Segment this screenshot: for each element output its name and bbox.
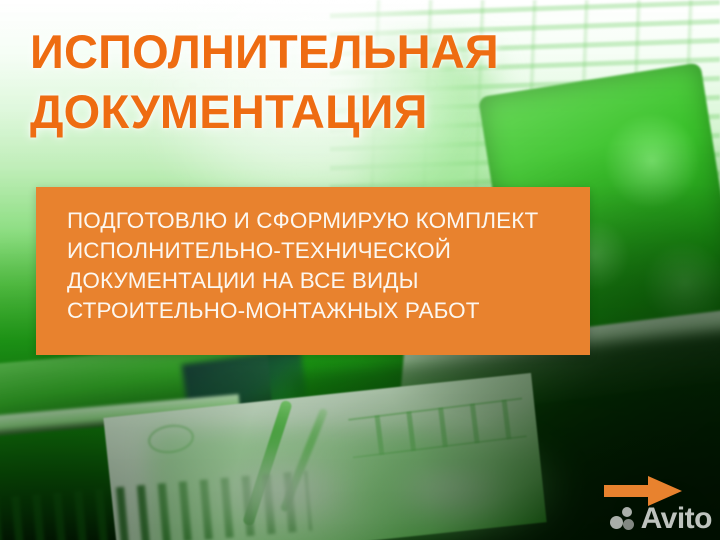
avito-wordmark: Avito xyxy=(641,504,712,534)
offer-line-1: ПОДГОТОВЛЮ И СФОРМИРУЮ КОМПЛЕКТ xyxy=(67,206,577,236)
offer-callout-panel: ПОДГОТОВЛЮ И СФОРМИРУЮ КОМПЛЕКТ ИСПОЛНИТ… xyxy=(36,187,590,355)
avito-watermark: Avito xyxy=(610,504,712,534)
offer-callout-text: ПОДГОТОВЛЮ И СФОРМИРУЮ КОМПЛЕКТ ИСПОЛНИТ… xyxy=(67,206,577,326)
offer-line-3: ДОКУМЕНТАЦИИ НА ВСЕ ВИДЫ xyxy=(67,266,577,296)
headline-line-2: ДОКУМЕНТАЦИЯ xyxy=(30,82,590,142)
headline: ИСПОЛНИТЕЛЬНАЯ ДОКУМЕНТАЦИЯ xyxy=(30,22,590,142)
advertisement-banner: ИСПОЛНИТЕЛЬНАЯ ДОКУМЕНТАЦИЯ ПОДГОТОВЛЮ И… xyxy=(0,0,720,540)
offer-line-4: СТРОИТЕЛЬНО-МОНТАЖНЫХ РАБОТ xyxy=(67,296,577,326)
offer-line-2: ИСПОЛНИТЕЛЬНО-ТЕХНИЧЕСКОЙ xyxy=(67,236,577,266)
avito-logo-icon xyxy=(610,506,640,532)
headline-line-1: ИСПОЛНИТЕЛЬНАЯ xyxy=(30,22,590,82)
